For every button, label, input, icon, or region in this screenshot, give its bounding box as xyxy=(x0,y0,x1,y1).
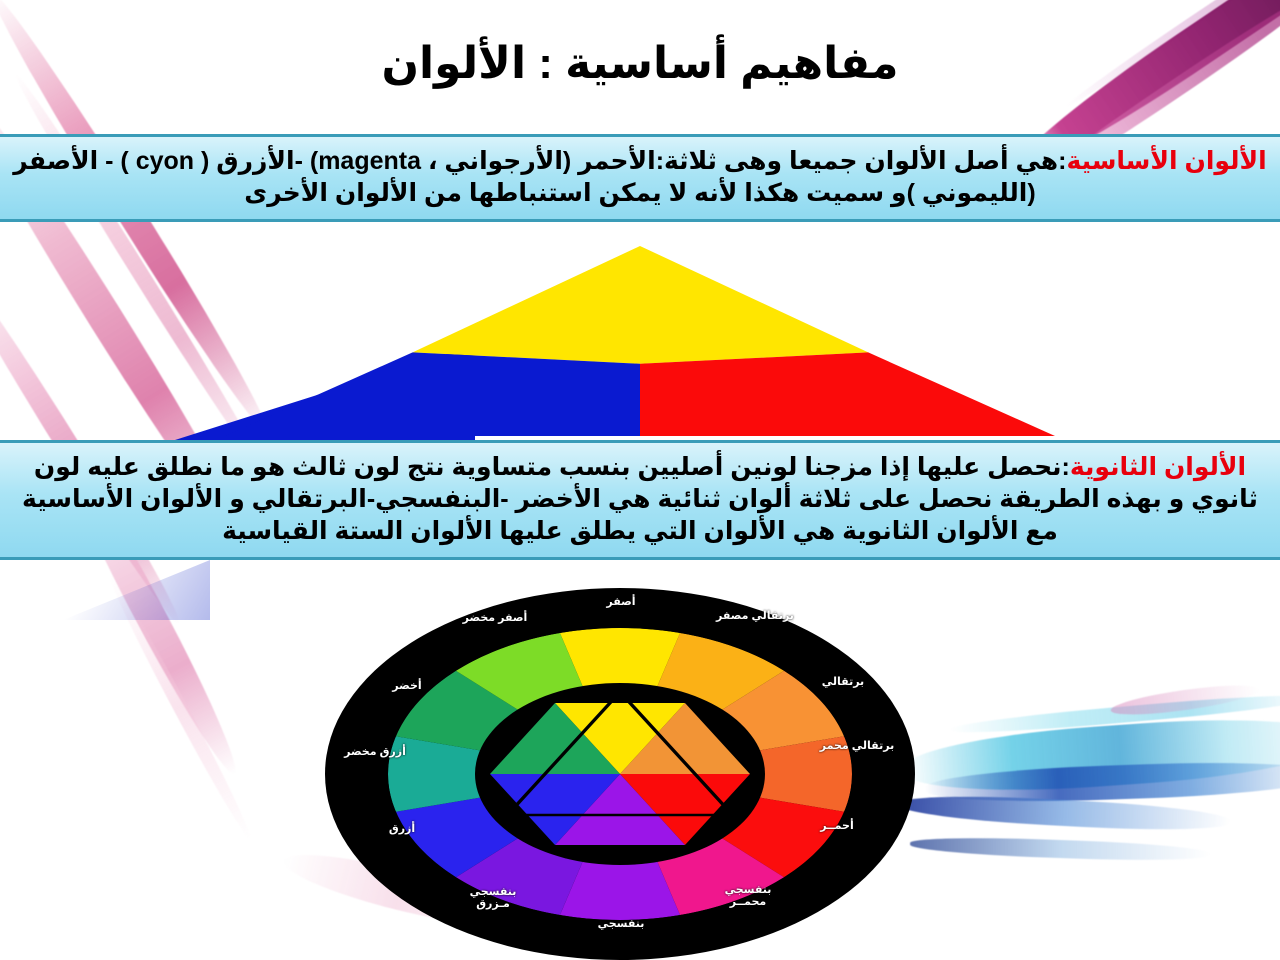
page-title: مفاهيم أساسية : الألوان xyxy=(0,38,1280,89)
wheel-label-blue-green: أزرق مخضر xyxy=(337,746,413,758)
wheel-label-green: أخضر xyxy=(370,680,444,692)
wheel-label-violet: بنفسجي xyxy=(573,918,669,930)
inner-hexagon-svg xyxy=(490,692,750,856)
wheel-label-red-violet: بنفسجي محمــر xyxy=(705,884,791,909)
wheel-label-blue: أزرق xyxy=(365,823,439,835)
primary-colors-triangle xyxy=(225,246,1055,436)
wheel-label-yellow-orange: برتقالي مصفر xyxy=(711,610,799,622)
wheel-label-red: أحمــر xyxy=(797,820,877,832)
aqua-brush-stroke-icon xyxy=(910,835,1210,863)
wheel-label-red-orange: برتقالي محمر xyxy=(815,740,899,752)
primary-colors-textbox: الألوان الأساسية:هي أصل الألوان جميعا وه… xyxy=(0,134,1280,222)
wheel-label-yellow-green: أصفر مخضر xyxy=(455,612,535,624)
primary-colors-keyword: الألوان الأساسية xyxy=(1066,147,1266,175)
color-wheel-diagram: أصفر أصفر مخضر أخضر أزرق مخضر أزرق بنفسج… xyxy=(325,588,915,960)
primary-colors-body: :هي أصل الألوان جميعا وهى ثلاثة:الأحمر (… xyxy=(13,147,1066,207)
wheel-label-orange: برتقالي xyxy=(803,676,883,688)
wheel-label-yellow: أصفر xyxy=(573,596,669,608)
secondary-colors-keyword: الألوان الثانوية xyxy=(1070,453,1246,481)
wheel-label-blue-violet: بنفسجي مـزرق xyxy=(453,886,533,911)
blue-wedge-shape-secondary xyxy=(0,560,210,620)
secondary-colors-textbox: الألوان الثانوية:نحصل عليها إذا مزجنا لو… xyxy=(0,440,1280,560)
color-wheel-inner-hexagon xyxy=(490,692,750,856)
